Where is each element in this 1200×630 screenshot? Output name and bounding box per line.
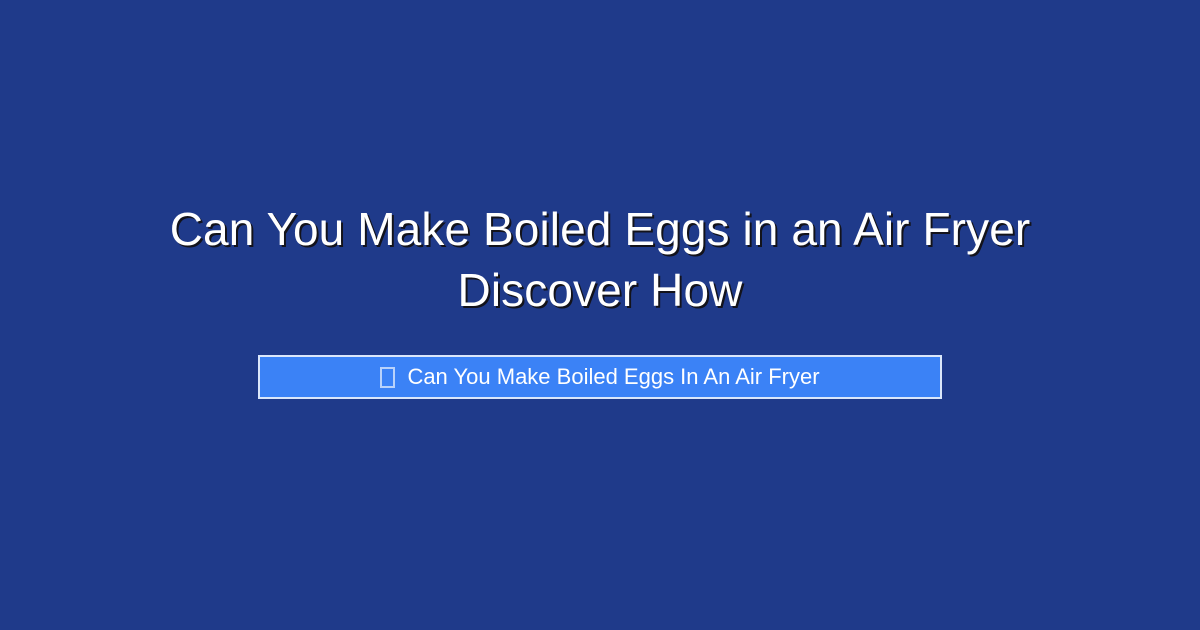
cta-container: Can You Make Boiled Eggs In An Air Fryer (0, 355, 1200, 399)
social-share-card: Can You Make Boiled Eggs in an Air Fryer… (0, 0, 1200, 630)
cta-button-label: Can You Make Boiled Eggs In An Air Fryer (407, 366, 819, 388)
page-title: Can You Make Boiled Eggs in an Air Fryer… (0, 199, 1200, 321)
missing-glyph-box-icon (380, 367, 395, 388)
cta-button[interactable]: Can You Make Boiled Eggs In An Air Fryer (258, 355, 942, 399)
